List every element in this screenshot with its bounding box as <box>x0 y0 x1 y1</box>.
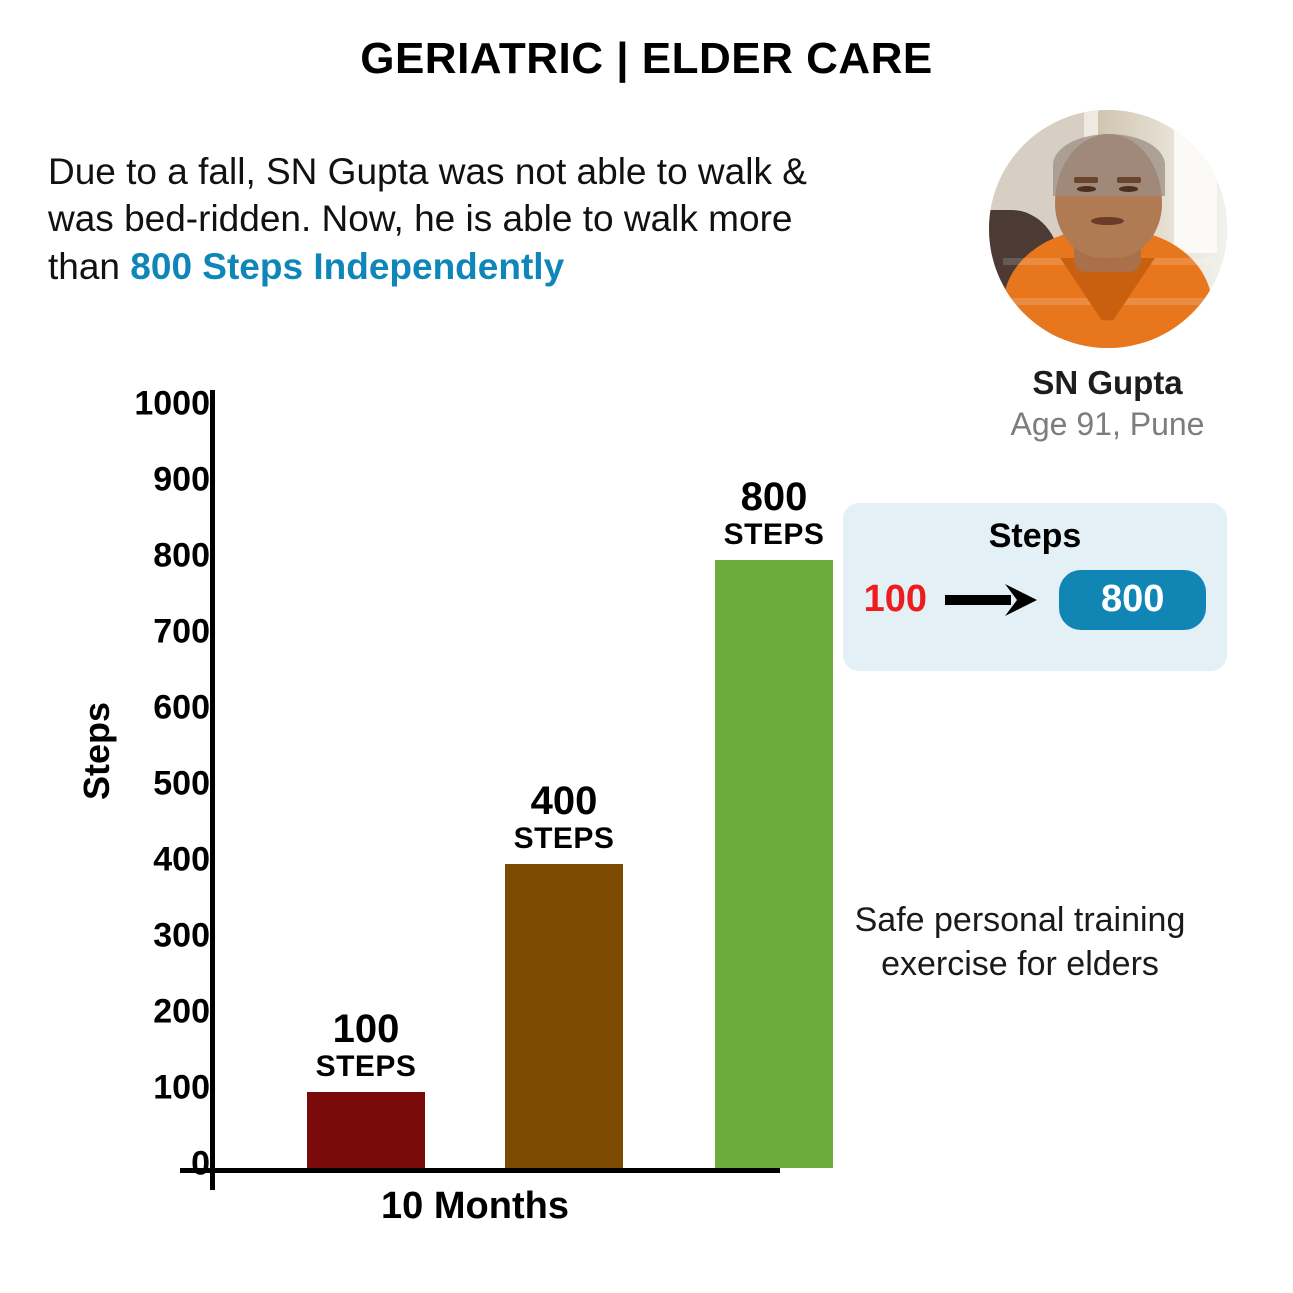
chart-y-tick: 1000 <box>134 385 210 424</box>
chart-plot-area: 100STEPS400STEPS800STEPS <box>215 400 780 1168</box>
photo-eye-left <box>1077 186 1096 192</box>
chart-x-axis-title: 10 Months <box>215 1185 735 1228</box>
chart-y-tick: 600 <box>153 689 210 728</box>
page-title: GERIATRIC | ELDER CARE <box>0 34 1293 84</box>
chart-y-tick: 300 <box>153 917 210 956</box>
chart-y-tick: 100 <box>153 1069 210 1108</box>
chart-bar-label: 400STEPS <box>514 780 615 864</box>
photo-hair <box>1053 134 1165 196</box>
intro-highlight: 800 Steps Independently <box>130 246 564 287</box>
steps-before-value: 100 <box>864 578 927 621</box>
intro-line-2: was bed-ridden. Now, he is able to walk … <box>48 198 792 239</box>
intro-line-3-prefix: than <box>48 246 130 287</box>
chart-y-tick: 500 <box>153 765 210 804</box>
tagline-line-2: exercise for elders <box>881 945 1159 983</box>
chart-bar-unit: STEPS <box>514 822 615 856</box>
steps-after-value: 800 <box>1059 570 1206 630</box>
chart-x-axis-line <box>180 1168 780 1173</box>
chart-bar-unit: STEPS <box>724 518 825 552</box>
steps-transition-card: Steps 100 800 <box>843 503 1227 671</box>
chart-bar-label: 100STEPS <box>316 1008 417 1092</box>
chart-bar: 100STEPS <box>307 1092 425 1168</box>
photo-window <box>1174 129 1217 253</box>
chart-bar-value: 100 <box>316 1008 417 1050</box>
chart-y-tick: 900 <box>153 461 210 500</box>
patient-block: SN Gupta Age 91, Pune <box>975 110 1240 443</box>
chart-y-axis-ticks: 01002003004005006007008009001000 <box>110 390 210 1170</box>
tagline: Safe personal training exercise for elde… <box>790 898 1250 986</box>
photo-eye-right <box>1119 186 1138 192</box>
patient-meta: Age 91, Pune <box>975 406 1240 443</box>
photo-eyebrow-right <box>1117 177 1141 183</box>
chart-bar: 800STEPS <box>715 560 833 1168</box>
chart-y-tick: 0 <box>191 1145 210 1184</box>
steps-transition-row: 100 800 <box>843 570 1227 630</box>
steps-card-title: Steps <box>843 517 1227 556</box>
chart-y-tick: 200 <box>153 993 210 1032</box>
intro-line-1: Due to a fall, SN Gupta was not able to … <box>48 151 807 192</box>
arrow-right-icon <box>945 582 1041 618</box>
chart-y-tick: 400 <box>153 841 210 880</box>
chart-y-tick: 700 <box>153 613 210 652</box>
chart-y-tick: 800 <box>153 537 210 576</box>
photo-eyebrow-left <box>1074 177 1098 183</box>
chart-bar-value: 400 <box>514 780 615 822</box>
chart-bar-unit: STEPS <box>316 1050 417 1084</box>
tagline-line-1: Safe personal training <box>855 901 1186 939</box>
chart-bar: 400STEPS <box>505 864 623 1168</box>
chart-bar-label: 800STEPS <box>724 476 825 560</box>
steps-bar-chart: Steps 01002003004005006007008009001000 1… <box>70 390 810 1250</box>
intro-paragraph: Due to a fall, SN Gupta was not able to … <box>48 148 948 290</box>
patient-name: SN Gupta <box>975 364 1240 402</box>
chart-bar-value: 800 <box>724 476 825 518</box>
avatar <box>989 110 1227 348</box>
